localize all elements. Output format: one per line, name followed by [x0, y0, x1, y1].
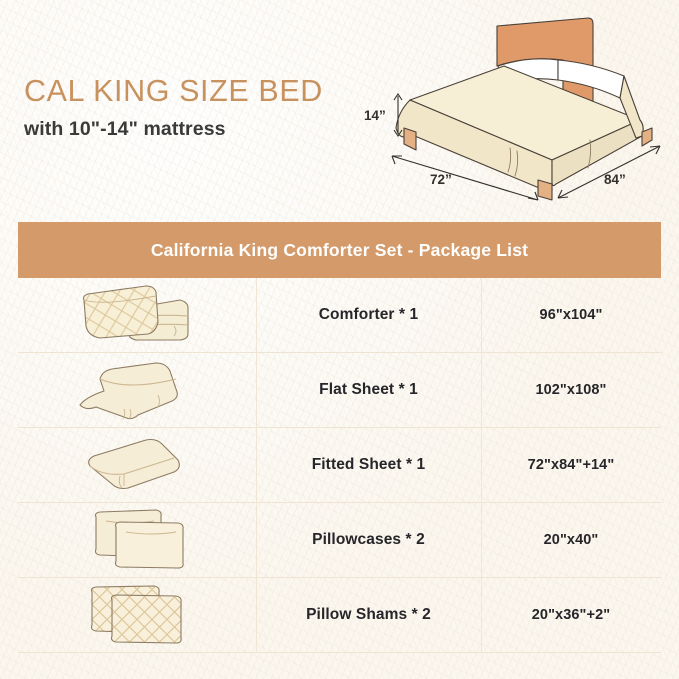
item-size: 20"x40"	[481, 532, 661, 548]
table-row: Pillowcases * 2 20"x40"	[18, 503, 661, 578]
fitted-sheet-icon	[62, 432, 212, 498]
table-row: Pillow Shams * 2 20"x36"+2"	[18, 578, 661, 653]
item-size: 96"x104"	[481, 307, 661, 323]
item-name: Fitted Sheet * 1	[256, 456, 481, 474]
dimension-length-label: 84”	[604, 172, 626, 187]
page-title: CAL KING SIZE BED	[24, 76, 323, 107]
item-name: Flat Sheet * 1	[256, 381, 481, 399]
table-header-banner: California King Comforter Set - Package …	[18, 222, 661, 278]
pillowcases-illustration-cell	[18, 503, 256, 577]
flat-sheet-icon	[62, 357, 212, 423]
dimension-width-label: 72”	[430, 172, 452, 187]
item-size: 20"x36"+2"	[481, 607, 661, 623]
table-header-title: California King Comforter Set - Package …	[151, 240, 528, 261]
bed-leg-left	[404, 128, 416, 150]
pillow-shams-illustration-cell	[18, 578, 256, 652]
page-subtitle: with 10"-14" mattress	[24, 118, 323, 141]
item-name: Pillowcases * 2	[256, 531, 481, 549]
table-row: Fitted Sheet * 1 72"x84"+14"	[18, 428, 661, 503]
flat-sheet-illustration-cell	[18, 353, 256, 427]
table-row: Comforter * 1 96"x104"	[18, 278, 661, 353]
product-infographic: CAL KING SIZE BED with 10"-14" mattress	[0, 0, 679, 679]
item-name: Pillow Shams * 2	[256, 606, 481, 624]
pillowcases-icon	[62, 507, 212, 573]
folded-comforter-icon	[62, 282, 212, 348]
item-size: 102"x108"	[481, 382, 661, 398]
item-name: Comforter * 1	[256, 306, 481, 324]
package-list-table: California King Comforter Set - Package …	[18, 222, 661, 653]
dimension-height-label: 14”	[364, 108, 386, 123]
headline-block: CAL KING SIZE BED with 10"-14" mattress	[24, 76, 323, 141]
table-row: Flat Sheet * 1 102"x108"	[18, 353, 661, 428]
comforter-illustration-cell	[18, 278, 256, 352]
item-size: 72"x84"+14"	[481, 457, 661, 473]
pillow-shams-icon	[62, 582, 212, 648]
table-body: Comforter * 1 96"x104"	[18, 278, 661, 653]
bed-illustration: 14” 72” 84”	[352, 8, 679, 208]
fitted-sheet-illustration-cell	[18, 428, 256, 502]
bed-leg-front	[538, 180, 552, 200]
